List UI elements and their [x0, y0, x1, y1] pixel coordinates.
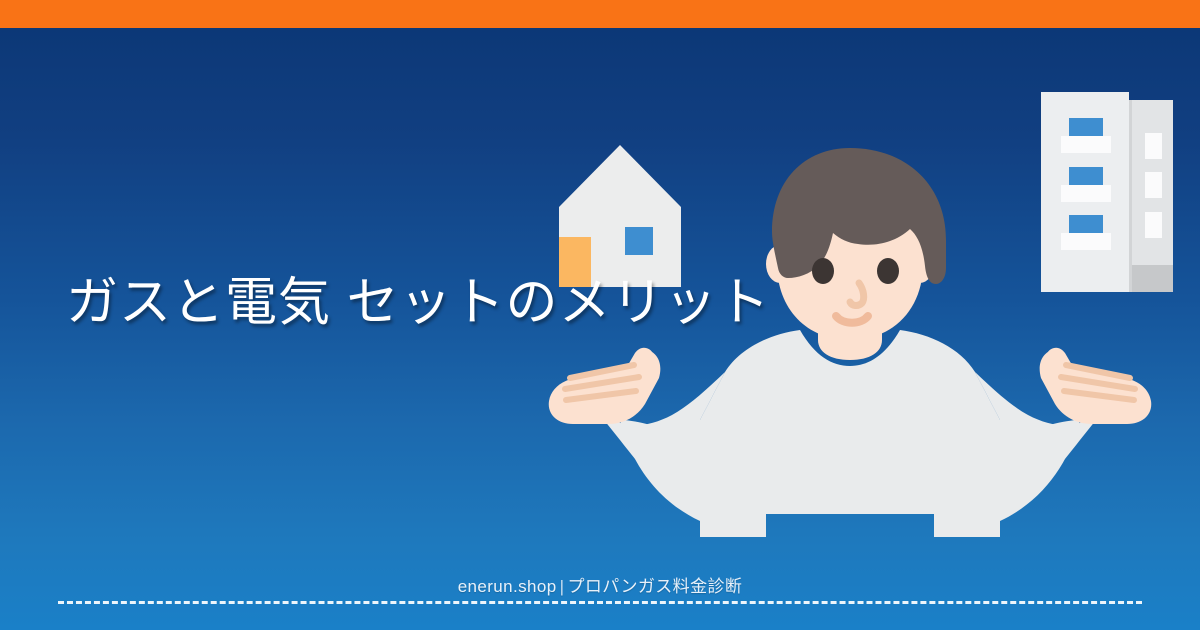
- banner-canvas: ガスと電気 セットのメリット enerun.shop|プロパンガス料金診断: [0, 0, 1200, 630]
- footer-site-name: enerun.shop: [458, 577, 557, 596]
- footer-tagline: プロパンガス料金診断: [567, 577, 742, 596]
- person-hand-left: [549, 348, 661, 424]
- person-eye-right: [877, 258, 899, 284]
- building-window-blue-3: [1069, 215, 1103, 233]
- person-hand-right: [1040, 348, 1152, 424]
- footer-divider: [58, 601, 1142, 604]
- building-window-blue-1: [1069, 118, 1103, 136]
- house-window: [625, 227, 653, 255]
- building-window-right-1: [1145, 133, 1162, 159]
- house-illustration: [559, 145, 681, 287]
- person-sweater-body: [700, 330, 1000, 537]
- building-window-white-1: [1061, 136, 1111, 153]
- person-eye-left: [812, 258, 834, 284]
- footer-separator: |: [557, 577, 568, 596]
- building-window-right-2: [1145, 172, 1162, 198]
- building-base-right: [1126, 265, 1173, 292]
- footer-credit: enerun.shop|プロパンガス料金診断: [0, 572, 1200, 597]
- building-window-white-3: [1061, 233, 1111, 250]
- building-window-right-3: [1145, 212, 1162, 238]
- building-window-blue-2: [1069, 167, 1103, 185]
- apartment-building-illustration: [1041, 92, 1173, 292]
- page-title: ガスと電気 セットのメリット: [66, 272, 770, 334]
- building-window-white-2: [1061, 185, 1111, 202]
